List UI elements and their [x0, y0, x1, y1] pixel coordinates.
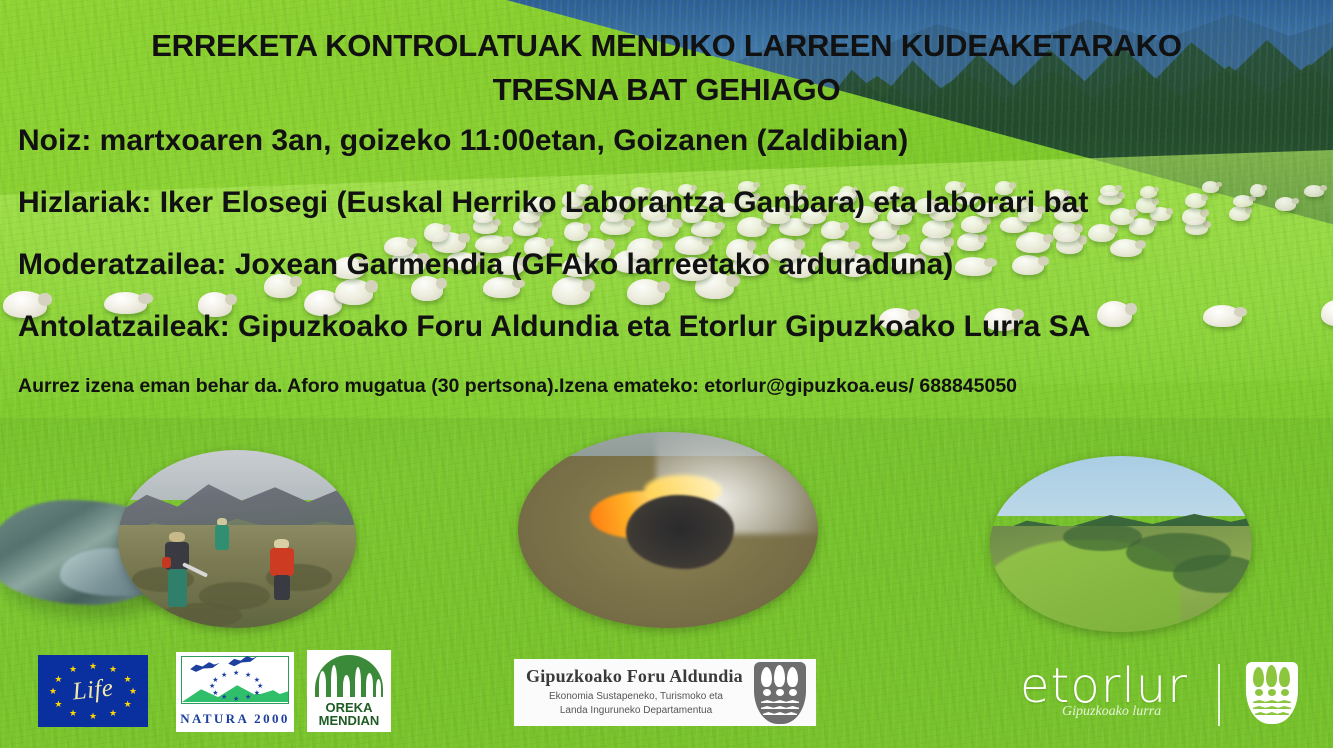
photo-controlled-burn [518, 432, 818, 628]
scrub-patch [1173, 555, 1252, 594]
natura-star-icon: ★ [209, 683, 215, 690]
natura-star-icon: ★ [233, 696, 239, 703]
eu-star-icon: ★ [89, 712, 97, 721]
detail-line-speakers: Hizlariak: Iker Elosegi (Euskal Herriko … [18, 186, 1088, 220]
sheep [1250, 184, 1266, 197]
eu-star-icon: ★ [49, 687, 57, 696]
natura-star-icon: ★ [221, 672, 227, 679]
life-wordmark: Life [71, 674, 115, 706]
logo-divider [1218, 664, 1220, 726]
sheep [335, 279, 373, 305]
background-landscape [0, 0, 1333, 748]
page-title: ERREKETA KONTROLATUAK MENDIKO LARREEN KU… [0, 24, 1333, 112]
natura-star-icon: ★ [212, 690, 218, 697]
scrub-patch [1063, 523, 1142, 551]
natura-star-icon: ★ [245, 694, 251, 701]
oreka-line-2: MENDIAN [319, 713, 380, 728]
detail-line-organisers: Antolatzaileak: Gipuzkoako Foru Aldundia… [18, 310, 1090, 344]
sheep [957, 233, 984, 252]
worker-figure [266, 539, 299, 600]
sheep [1202, 181, 1219, 193]
sheep [1088, 224, 1115, 243]
eu-star-icon: ★ [54, 700, 62, 709]
etorlur-logo: etorlur Gipuzkoako lurra [1020, 658, 1320, 738]
sheep [1185, 193, 1205, 208]
eu-star-icon: ★ [124, 700, 132, 709]
charred-area [626, 495, 734, 569]
sheep [1182, 208, 1206, 225]
eu-star-icon: ★ [124, 675, 132, 684]
grass-dome-icon [315, 655, 383, 697]
sheep [922, 220, 951, 238]
sheep [1097, 301, 1132, 327]
worker-figure-distant [213, 518, 230, 550]
sheep [1229, 206, 1250, 221]
photo-brush-clearing [118, 450, 356, 628]
sheep [1100, 185, 1119, 197]
brush-clump [161, 603, 242, 628]
sheep [1136, 197, 1156, 213]
sheep [955, 257, 993, 276]
sheep [1304, 185, 1324, 197]
sheep [821, 221, 846, 239]
sheep [1012, 255, 1045, 276]
sheep [691, 221, 722, 237]
photo-green-hillside [990, 456, 1252, 632]
sheep [1233, 195, 1254, 207]
sheep [1053, 222, 1080, 241]
eu-star-icon: ★ [89, 662, 97, 671]
photo-content [990, 456, 1252, 632]
eu-star-icon: ★ [69, 709, 77, 718]
natura-star-icon: ★ [221, 694, 227, 701]
sheep [627, 279, 665, 305]
detail-line-moderator: Moderatzailea: Joxean Garmendia (GFAko l… [18, 248, 953, 282]
natura-wordmark: NATURA 2000 [176, 711, 294, 727]
sheep [1140, 186, 1157, 197]
oreka-wordmark: OREKA MENDIAN [307, 701, 391, 728]
gfa-title: Gipuzkoako Foru Aldundia [526, 666, 743, 687]
gfa-subtitle-line-1: Ekonomia Sustapeneko, Turismoko eta [549, 691, 723, 702]
title-line-2: TRESNA BAT GEHIAGO [493, 72, 841, 107]
gfa-subtitle: Ekonomia Sustapeneko, Turismoko eta Land… [526, 690, 746, 717]
eu-star-icon: ★ [69, 665, 77, 674]
eu-star-icon: ★ [129, 687, 137, 696]
gipuzkoako-foru-aldundia-logo: Gipuzkoako Foru Aldundia Ekonomia Sustap… [514, 659, 816, 726]
natura-star-icon: ★ [212, 677, 218, 684]
sheep [1203, 305, 1242, 327]
worker-figure [158, 532, 196, 607]
eu-star-icon: ★ [109, 665, 117, 674]
gfa-subtitle-line-2: Landa Inguruneko Departamentua [560, 705, 712, 716]
photo-content [118, 450, 356, 628]
sheep [424, 223, 448, 242]
detail-line-when: Noiz: martxoaren 3an, goizeko 11:00etan,… [18, 124, 908, 158]
poster-canvas: ERREKETA KONTROLATUAK MENDIKO LARREEN KU… [0, 0, 1333, 748]
natura-star-icon: ★ [254, 690, 260, 697]
sheep [1275, 197, 1296, 211]
eu-star-icon: ★ [54, 675, 62, 684]
photo-content [518, 432, 818, 628]
natura-star-icon: ★ [245, 672, 251, 679]
sheep [564, 222, 588, 241]
registration-note: Aurrez izena eman behar da. Aforo mugatu… [18, 375, 1017, 398]
grass-texture-overlay [0, 0, 1333, 748]
title-line-1: ERREKETA KONTROLATUAK MENDIKO LARREEN KU… [151, 28, 1182, 63]
sheep [1321, 300, 1333, 326]
photo-sky [990, 456, 1252, 516]
gipuzkoa-coat-of-arms [754, 662, 806, 724]
etorlur-tagline: Gipuzkoako lurra [1062, 704, 1161, 720]
sheep [1016, 232, 1050, 253]
sheep [1110, 208, 1135, 226]
sheep [737, 217, 767, 237]
eu-star-icon: ★ [109, 709, 117, 718]
sheep [1110, 239, 1142, 257]
life-eu-logo: ★★★★★★★★★★★★ Life [38, 655, 148, 727]
natura-star-icon: ★ [233, 670, 239, 677]
natura-2000-logo: ★★★★★★★★★★★★ NATURA 2000 [176, 652, 294, 732]
oreka-mendian-logo: OREKA MENDIAN [307, 650, 391, 732]
photo-sky [118, 450, 356, 500]
gipuzkoa-coat-of-arms [1246, 662, 1298, 724]
